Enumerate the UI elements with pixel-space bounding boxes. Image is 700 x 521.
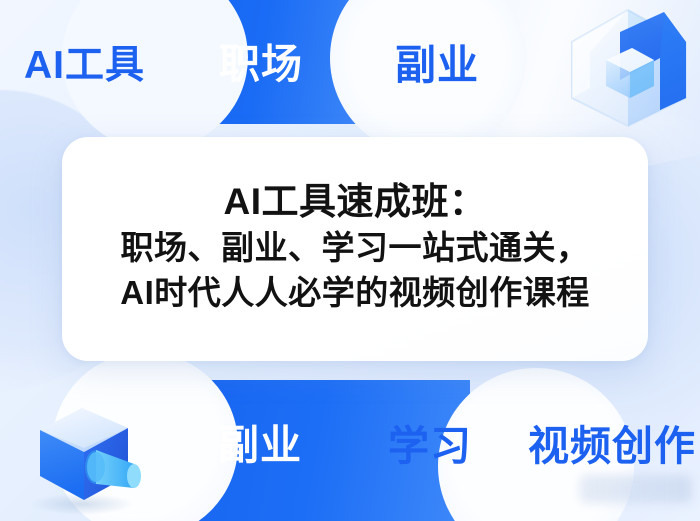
poster-canvas: AI工具 职场 副业 AI工具速成班： 职场、副业、学习一站式通关， AI时代人… [0, 0, 700, 521]
tag-workplace[interactable]: 职场 [219, 44, 303, 85]
tag-study[interactable]: 学习 [388, 426, 472, 467]
isometric-cube-plug-icon [18, 392, 154, 518]
tag-side-hustle-bottom[interactable]: 副业 [218, 425, 302, 466]
course-title-line-3: AI时代人人必学的视频创作课程 [120, 271, 590, 316]
course-title-line-1: AI工具速成班： [224, 179, 487, 224]
watermark [580, 475, 692, 503]
isometric-glass-cube-icon [560, 2, 696, 132]
tag-side-hustle-top[interactable]: 副业 [395, 45, 479, 86]
title-card: AI工具速成班： 职场、副业、学习一站式通关， AI时代人人必学的视频创作课程 [62, 137, 648, 361]
course-title-line-2: 职场、副业、学习一站式通关， [121, 226, 590, 271]
tag-ai-tools[interactable]: AI工具 [24, 46, 145, 85]
tag-video-creation[interactable]: 视频创作 [528, 426, 696, 467]
